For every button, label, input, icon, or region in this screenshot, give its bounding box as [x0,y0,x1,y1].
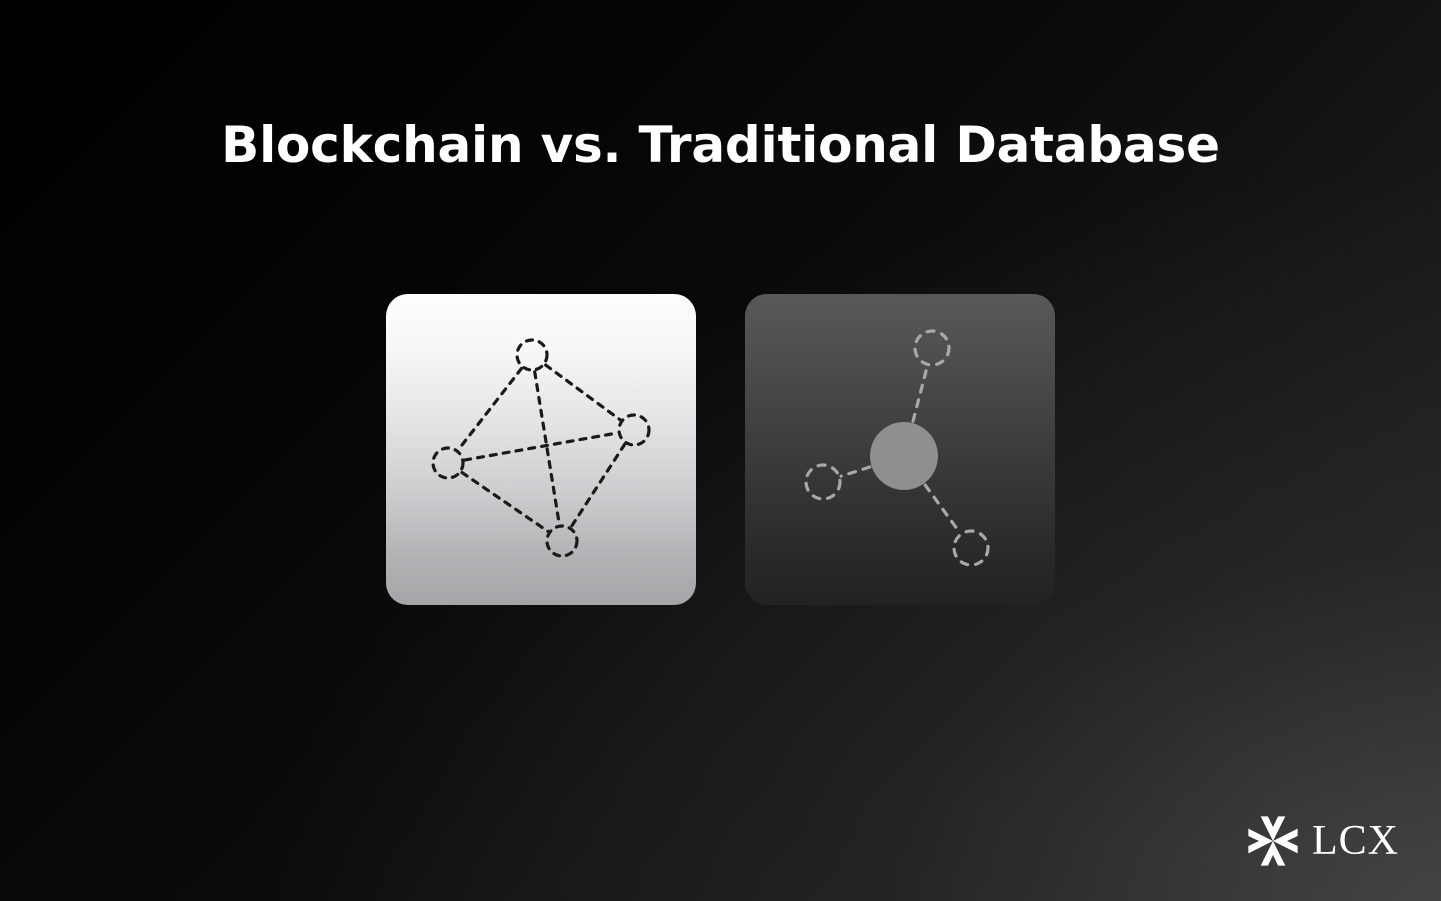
lcx-logo[interactable]: LCX [1245,813,1399,869]
slide-canvas: Blockchain vs. Traditional Database [0,0,1441,901]
satellite-node [954,531,988,565]
network-edge [465,433,618,460]
satellite-node [915,331,949,365]
card-blockchain[interactable] [386,294,696,605]
card-traditional-database[interactable] [745,294,1055,605]
network-edge [458,368,521,449]
lcx-star-icon [1245,813,1301,869]
centralized-network-icon [745,294,1055,605]
network-edge [462,473,548,532]
network-edge [925,485,960,533]
hub-node [870,422,938,490]
network-edge [841,467,870,476]
network-node [517,340,547,370]
network-node [433,448,463,478]
network-node [619,415,649,445]
page-title: Blockchain vs. Traditional Database [0,112,1441,178]
network-edge [535,372,560,524]
network-edge [546,365,621,420]
network-edge [913,366,927,421]
lcx-wordmark: LCX [1312,820,1399,862]
network-node [547,526,577,556]
decentralized-network-icon [386,294,696,605]
satellite-node [806,465,840,499]
network-edge [571,444,624,526]
